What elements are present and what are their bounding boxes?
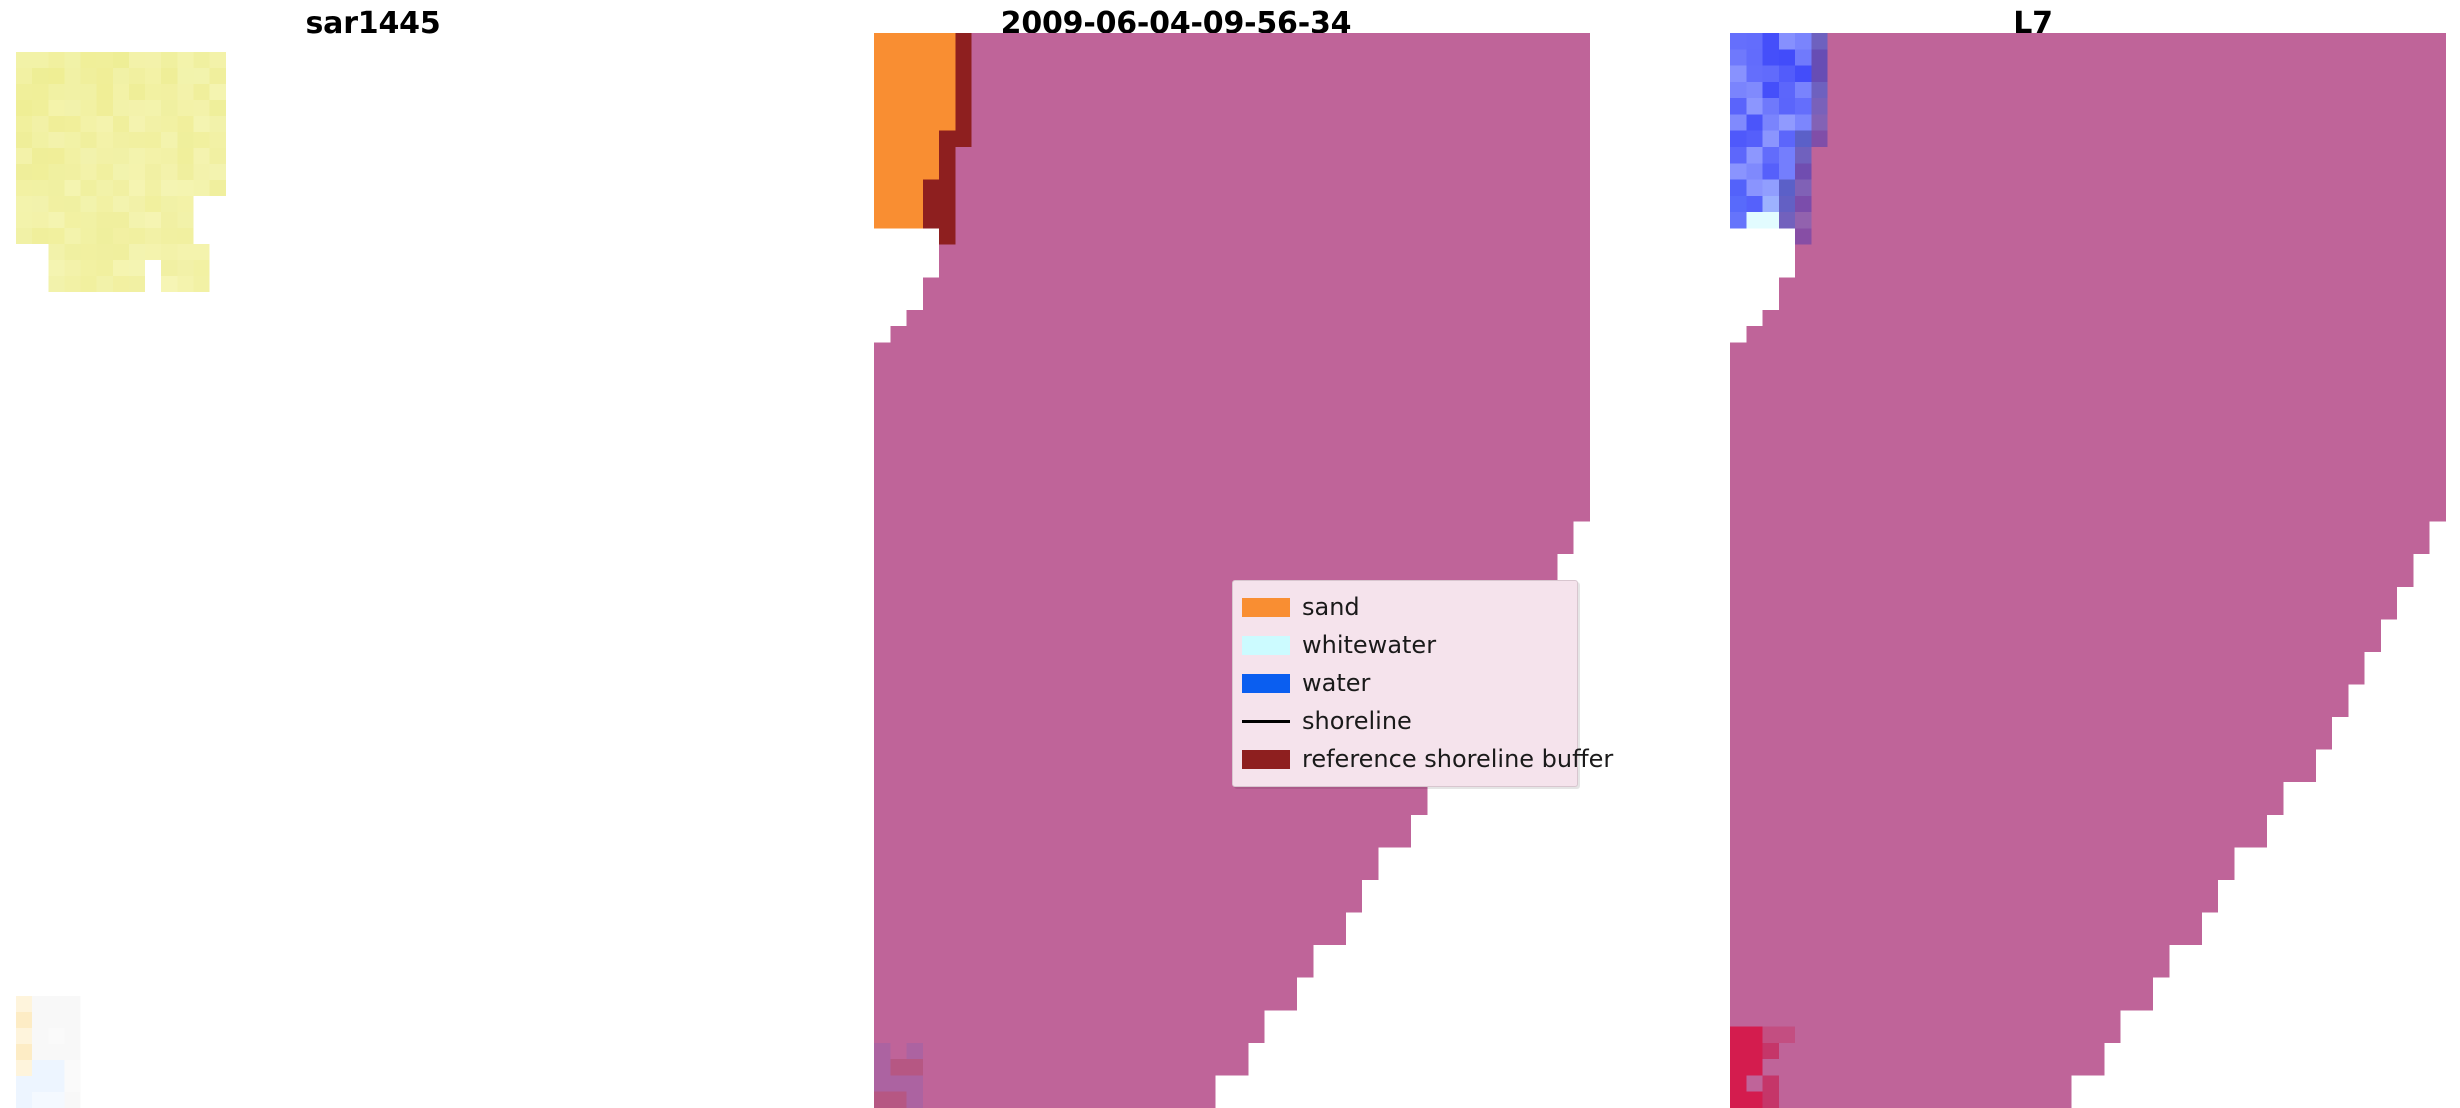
legend-label-water: water bbox=[1302, 671, 1370, 695]
legend-item-water: water bbox=[1242, 664, 1568, 702]
raster-l7 bbox=[1730, 33, 2446, 1108]
legend-swatch-sand bbox=[1242, 598, 1290, 617]
legend-label-whitewater: whitewater bbox=[1302, 633, 1436, 657]
legend-item-sand: sand bbox=[1242, 588, 1568, 626]
raster-sar1445 bbox=[16, 52, 371, 1108]
legend-swatch-reference-shoreline-buffer bbox=[1242, 750, 1290, 769]
legend-label-sand: sand bbox=[1302, 595, 1360, 619]
legend-swatch-whitewater bbox=[1242, 636, 1290, 655]
legend-label-reference-shoreline-buffer: reference shoreline buffer bbox=[1302, 747, 1613, 771]
legend-swatch-shoreline bbox=[1242, 720, 1290, 723]
panel-l7: L7 bbox=[1606, 0, 2460, 1108]
legend-item-shoreline: shoreline bbox=[1242, 702, 1568, 740]
figure-canvas: sar1445 2009-06-04-09-56-34 L7 sand whit… bbox=[0, 0, 2460, 1108]
legend-box: sand whitewater water shoreline referenc… bbox=[1232, 580, 1578, 787]
legend-item-whitewater: whitewater bbox=[1242, 626, 1568, 664]
panel-sar1445: sar1445 bbox=[0, 0, 746, 1108]
panel-classified: 2009-06-04-09-56-34 bbox=[746, 0, 1606, 1108]
legend-item-reference-shoreline-buffer: reference shoreline buffer bbox=[1242, 740, 1568, 778]
panel-title-sar1445: sar1445 bbox=[0, 6, 746, 41]
legend-swatch-water bbox=[1242, 674, 1290, 693]
legend-label-shoreline: shoreline bbox=[1302, 709, 1412, 733]
raster-classified bbox=[874, 33, 1590, 1108]
